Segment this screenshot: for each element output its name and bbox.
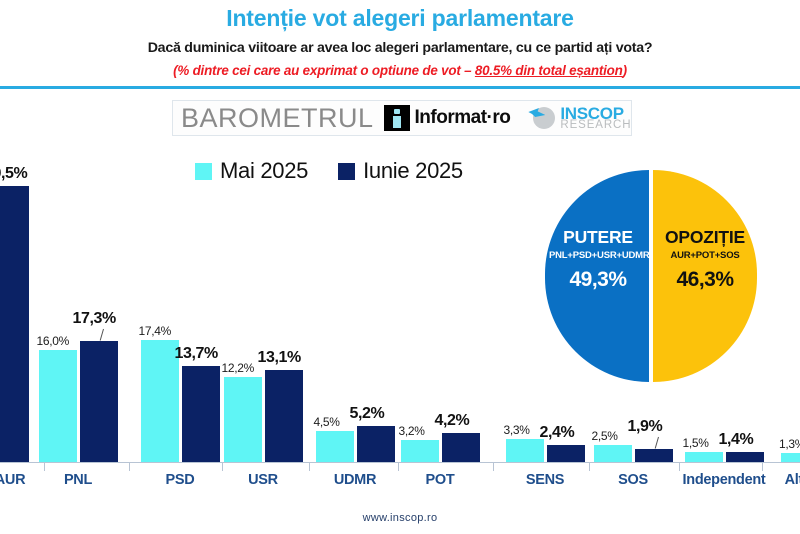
note-suffix: ) [623, 63, 627, 78]
value-label-mai-pot: 3,2% [399, 425, 425, 437]
brand-bar: BAROMETRUL Informat·ro INSCOP RESEARCH [172, 100, 632, 136]
axis-tick [762, 462, 763, 471]
axis-tick [589, 462, 590, 471]
value-label-iunie-pnl: 17,3% [73, 311, 116, 327]
bar-iunie-psd[interactable] [182, 366, 220, 462]
value-label-iunie-udmr: 5,2% [350, 406, 385, 422]
informat-icon [384, 105, 410, 131]
bar-group-psd [141, 140, 220, 462]
page-title: Intenție vot alegeri parlamentare [0, 0, 800, 30]
bar-group-usr [224, 140, 303, 462]
note-prefix: (% dintre cei care au exprimat o optiune… [173, 63, 475, 78]
bar-mai-altul[interactable] [781, 453, 800, 462]
informat-logo: Informat·ro [384, 105, 511, 131]
poll-infographic: Intenție vot alegeri parlamentare Dacă d… [0, 0, 800, 534]
inscop-swoosh-icon [528, 104, 558, 132]
value-label-iunie-pot: 4,2% [435, 413, 470, 429]
bar-mai-udmr[interactable] [316, 431, 354, 463]
value-label-iunie-independent: 1,4% [719, 432, 754, 448]
axis-tick [129, 462, 130, 471]
value-label-mai-sos: 2,5% [592, 430, 618, 442]
category-label-pot: POT [380, 472, 500, 488]
axis-tick [309, 462, 310, 471]
header-divider [0, 86, 800, 89]
value-label-mai-udmr: 4,5% [314, 416, 340, 428]
bar-group-sos [594, 140, 673, 462]
bar-mai-sens[interactable] [506, 439, 544, 462]
value-label-iunie-aur: 39,5% [0, 166, 27, 182]
bar-group-pnl [39, 140, 118, 462]
header: Intenție vot alegeri parlamentare Dacă d… [0, 0, 800, 88]
bar-mai-pot[interactable] [401, 440, 439, 462]
bar-iunie-sens[interactable] [547, 445, 585, 462]
bar-iunie-aur[interactable] [0, 186, 29, 463]
axis-tick [493, 462, 494, 471]
axis-tick [222, 462, 223, 471]
bar-mai-pnl[interactable] [39, 350, 77, 462]
axis-tick [398, 462, 399, 471]
bar-mai-independent[interactable] [685, 452, 723, 463]
vote-intention-bar-chart: 39,5%AUR16,0%17,3%PNL17,4%13,7%PSD12,2%1… [0, 140, 800, 465]
value-label-iunie-sens: 2,4% [540, 425, 575, 441]
value-label-mai-sens: 3,3% [504, 424, 530, 436]
inscop-wordmark: INSCOP RESEARCH [560, 105, 631, 132]
footer-url: www.inscop.ro [0, 512, 800, 524]
page-subtitle: Dacă duminica viitoare ar avea loc alege… [0, 30, 800, 55]
bar-iunie-usr[interactable] [265, 370, 303, 462]
axis-tick [679, 462, 680, 471]
axis-tick [44, 462, 45, 471]
value-label-iunie-psd: 13,7% [175, 346, 218, 362]
bar-group-independent [685, 140, 764, 462]
bar-mai-psd[interactable] [141, 340, 179, 462]
inscop-logo: INSCOP RESEARCH [528, 104, 631, 132]
note-emphasis: 80.5% din total eșantion [475, 63, 623, 78]
bar-iunie-sos[interactable] [635, 449, 673, 462]
value-label-iunie-usr: 13,1% [258, 350, 301, 366]
barometrul-wordmark: BAROMETRUL [181, 103, 374, 134]
bar-iunie-pot[interactable] [442, 433, 480, 462]
bar-group-altul [781, 140, 800, 462]
chart-baseline [0, 462, 800, 463]
value-label-mai-independent: 1,5% [683, 437, 709, 449]
value-label-mai-usr: 12,2% [222, 362, 255, 374]
bar-group-aur [0, 140, 29, 462]
category-label-altul: Altul [740, 472, 800, 488]
bar-group-sens [506, 140, 585, 462]
value-label-mai-altul: 1,3% [779, 438, 800, 450]
value-label-mai-psd: 17,4% [139, 325, 172, 337]
inscop-tagline: RESEARCH [560, 120, 631, 132]
bar-iunie-independent[interactable] [726, 452, 764, 462]
bar-iunie-udmr[interactable] [357, 426, 395, 462]
bar-mai-usr[interactable] [224, 377, 262, 462]
bar-mai-sos[interactable] [594, 445, 632, 463]
bar-iunie-pnl[interactable] [80, 341, 118, 462]
value-label-mai-pnl: 16,0% [37, 335, 70, 347]
page-note: (% dintre cei care au exprimat o optiune… [0, 55, 800, 77]
value-label-iunie-sos: 1,9% [628, 419, 663, 435]
informat-wordmark: Informat·ro [415, 107, 511, 129]
